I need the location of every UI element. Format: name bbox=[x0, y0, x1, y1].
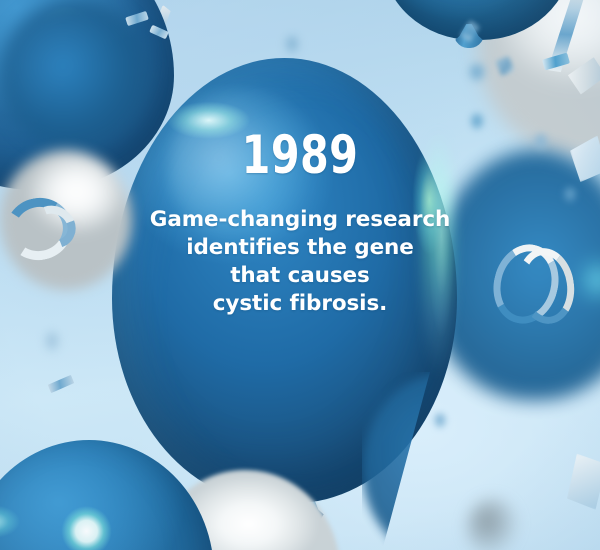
balloon-white-bottomright-shadow bbox=[466, 498, 520, 550]
confetti-bokeh-7 bbox=[432, 412, 448, 430]
confetti-bokeh-5 bbox=[42, 330, 62, 354]
ribbon-streamer-right-lower bbox=[566, 453, 600, 510]
main-balloon-rim-light bbox=[423, 129, 454, 378]
confetti-bokeh-4 bbox=[562, 186, 578, 204]
confetti-bokeh-1 bbox=[282, 34, 302, 56]
confetti-bokeh-3 bbox=[468, 112, 486, 132]
ribbon-streamer-bottom-left bbox=[47, 375, 75, 394]
confetti-bokeh-2 bbox=[466, 62, 488, 84]
celebration-graphic: 1989 Game-changing research identifies t… bbox=[0, 0, 600, 550]
confetti-bokeh-8 bbox=[532, 132, 550, 152]
